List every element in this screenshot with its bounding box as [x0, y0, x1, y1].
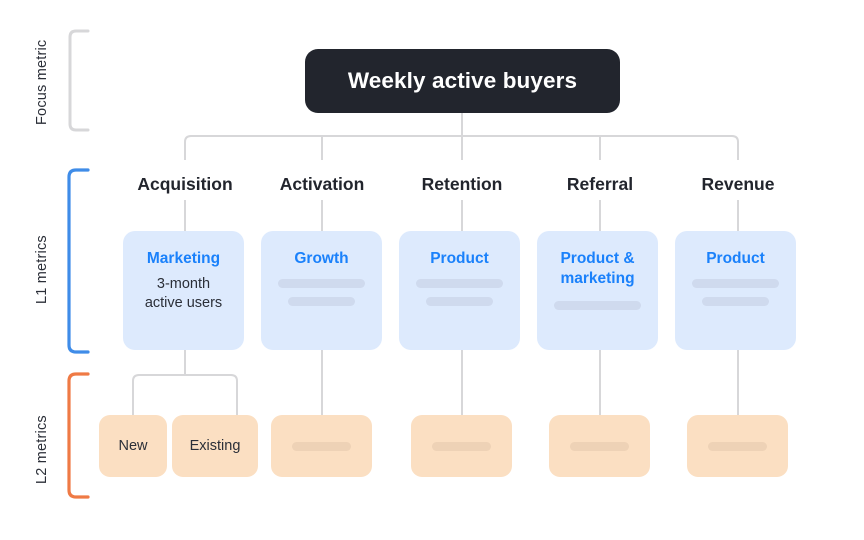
l1-card-placeholder-bars [537, 301, 658, 310]
placeholder-bar [708, 442, 767, 451]
rail-label-l1-metrics: L1 metrics [34, 200, 50, 340]
l1-card-title: Product [675, 249, 796, 269]
placeholder-bar [288, 297, 356, 306]
placeholder-bar [426, 297, 494, 306]
column-header-activation[interactable]: Activation [280, 174, 365, 195]
placeholder-bar [432, 442, 491, 451]
l1-card-activation[interactable]: Growth [261, 231, 382, 350]
column-header-referral[interactable]: Referral [567, 174, 633, 195]
placeholder-bar [570, 442, 629, 451]
l1-card-placeholder-bars [261, 279, 382, 306]
placeholder-bar [292, 442, 351, 451]
l2-card-activation[interactable] [271, 415, 372, 477]
column-header-retention[interactable]: Retention [422, 174, 503, 195]
l1-card-title: Product [399, 249, 520, 269]
l1-card-placeholder-bars [675, 279, 796, 306]
l2-card-title: New [118, 438, 147, 454]
l1-card-referral[interactable]: Product &marketing [537, 231, 658, 350]
placeholder-bar [416, 279, 503, 288]
l1-card-acquisition[interactable]: Marketing 3-monthactive users [123, 231, 244, 350]
l1-card-subtitle: 3-monthactive users [123, 275, 244, 313]
focus-metric-label: Weekly active buyers [348, 68, 577, 94]
placeholder-bar [278, 279, 365, 288]
l2-card-revenue[interactable] [687, 415, 788, 477]
placeholder-bar [702, 297, 770, 306]
l1-card-title: Growth [261, 249, 382, 269]
l1-card-placeholder-bars [399, 279, 520, 306]
column-header-revenue[interactable]: Revenue [702, 174, 775, 195]
l1-card-retention[interactable]: Product [399, 231, 520, 350]
rail-label-focus-metric: Focus metric [34, 26, 50, 138]
focus-metric-card[interactable]: Weekly active buyers [305, 49, 620, 113]
l1-card-revenue[interactable]: Product [675, 231, 796, 350]
placeholder-bar [692, 279, 779, 288]
l2-card-new[interactable]: New [99, 415, 167, 477]
column-header-acquisition[interactable]: Acquisition [137, 174, 232, 195]
l1-card-title: Marketing [123, 249, 244, 269]
l2-card-referral[interactable] [549, 415, 650, 477]
l2-card-retention[interactable] [411, 415, 512, 477]
rail-label-l2-metrics: L2 metrics [34, 396, 50, 504]
l1-card-title: Product &marketing [537, 249, 658, 289]
l2-card-existing[interactable]: Existing [172, 415, 258, 477]
placeholder-bar [554, 301, 641, 310]
metric-tree-diagram: Focus metric L1 metrics L2 metrics Weekl… [0, 0, 864, 540]
l2-card-title: Existing [190, 438, 241, 454]
